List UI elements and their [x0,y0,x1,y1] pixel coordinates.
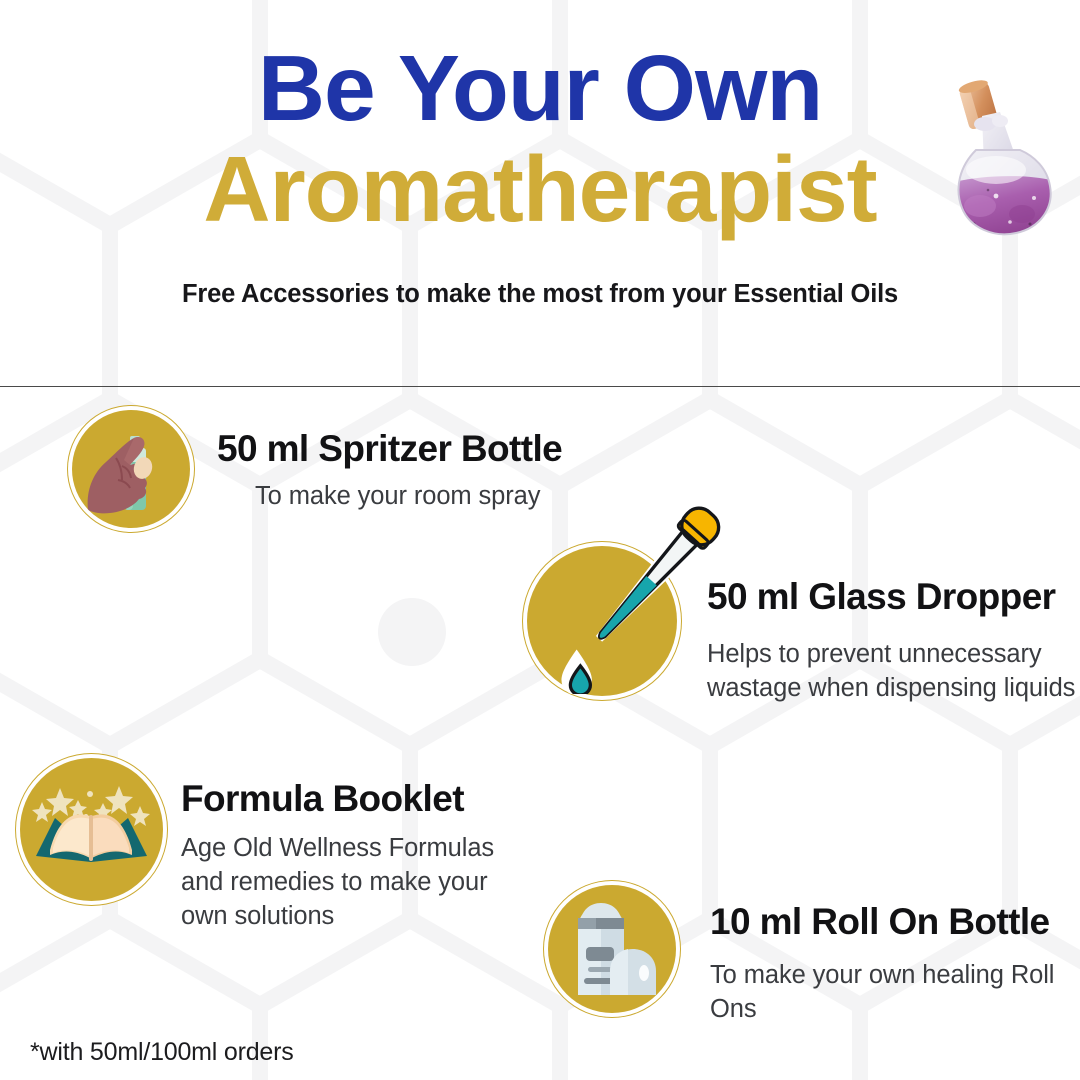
rollon-title: 10 ml Roll On Bottle [710,901,1080,942]
horizontal-divider [0,386,1080,387]
dropper-badge [527,546,677,696]
booklet-text: Formula Booklet Age Old Wellness Formula… [181,778,511,934]
rollon-badge [548,885,676,1013]
product-item-rollon: 10 ml Roll On Bottle To make your own he… [548,885,1080,1015]
booklet-badge [20,758,163,901]
roll-on-bottle-icon [548,885,676,1013]
dropper-desc: Helps to prevent unnecessary wastage whe… [707,617,1080,706]
spritzer-badge [72,410,190,528]
potion-bottle-icon [930,72,1070,252]
page-title-line1: Be Your Own [0,0,1080,135]
header: Be Your Own Aromatherapist Free Accessor… [0,0,1080,309]
spritzer-title: 50 ml Spritzer Bottle [217,428,737,469]
rollon-desc: To make your own healing Roll Ons [710,942,1080,1027]
dropper-title: 50 ml Glass Dropper [707,576,1080,617]
open-book-with-stars-icon [20,758,163,901]
booklet-desc: Age Old Wellness Formulas and remedies t… [181,819,511,934]
page-subtitle: Free Accessories to make the most from y… [0,236,1080,309]
poster-canvas: Be Your Own Aromatherapist Free Accessor… [0,0,1080,1080]
dropper-text: 50 ml Glass Dropper Helps to prevent unn… [707,576,1080,706]
booklet-title: Formula Booklet [181,778,511,819]
rollon-text: 10 ml Roll On Bottle To make your own he… [710,901,1080,1027]
hand-holding-spray-bottle-icon [72,410,190,528]
glass-dropper-pipette-icon [527,546,677,696]
product-item-booklet: Formula Booklet Age Old Wellness Formula… [20,758,530,903]
product-item-dropper: 50 ml Glass Dropper Helps to prevent unn… [527,546,1080,706]
footnote: *with 50ml/100ml orders [30,1038,294,1067]
page-title-line2: Aromatherapist [0,135,1080,236]
